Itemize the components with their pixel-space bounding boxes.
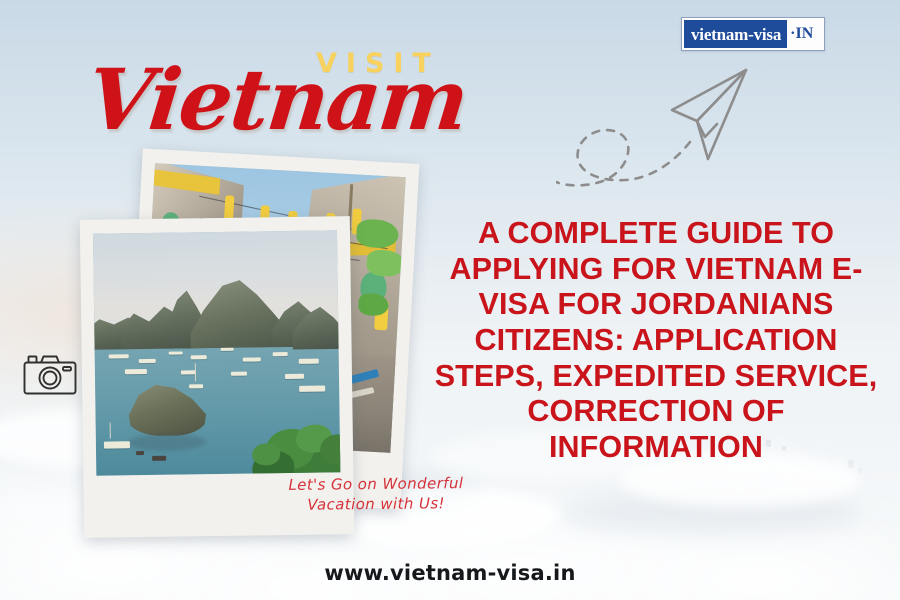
- wordmark-vietnam: Vietnam: [84, 58, 471, 142]
- boat: [104, 441, 130, 448]
- poster-canvas: vietnam-visa ·IN VISIT Vietnam: [0, 0, 900, 600]
- visit-vietnam-wordmark: VISIT Vietnam: [88, 38, 468, 148]
- boat: [191, 356, 207, 360]
- foreground-foliage: [239, 400, 340, 476]
- boat: [125, 368, 147, 373]
- logo-primary-text: vietnam-visa: [691, 26, 781, 43]
- camera-icon: [22, 352, 78, 398]
- logo-suffix-text: ·IN: [790, 26, 813, 42]
- paper-plane-graphic: [556, 58, 756, 188]
- bay-scene: [93, 230, 340, 475]
- boat: [109, 354, 129, 358]
- polaroid-caption: Let's Go on Wonderful Vacation with Us!: [276, 473, 476, 516]
- logo-blue-panel: vietnam-visa: [684, 20, 787, 48]
- sailboat: [189, 385, 203, 389]
- boat: [231, 372, 247, 376]
- ha-long-bay-photo: [93, 230, 340, 475]
- caption-line-1: Let's Go on Wonderful: [276, 473, 476, 495]
- page-title: A COMPLETE GUIDE TO APPLYING FOR VIETNAM…: [424, 216, 888, 465]
- boat: [181, 370, 196, 374]
- boat: [299, 385, 325, 391]
- boat: [285, 374, 304, 379]
- caption-line-2: Vacation with Us!: [276, 493, 476, 515]
- dashed-trail-icon: [556, 130, 690, 185]
- boat: [221, 348, 234, 351]
- boat: [299, 359, 319, 364]
- logo-white-panel: ·IN: [787, 20, 818, 48]
- boat: [139, 359, 156, 363]
- brand-logo[interactable]: vietnam-visa ·IN: [681, 17, 825, 51]
- sailboat-mast: [110, 422, 111, 438]
- small-boat: [152, 455, 166, 460]
- boat: [273, 352, 288, 356]
- small-boat: [136, 451, 144, 455]
- boat: [243, 357, 261, 361]
- boat: [169, 351, 183, 354]
- footer-url[interactable]: www.vietnam-visa.in: [0, 561, 900, 585]
- paper-plane-icon: [556, 58, 756, 188]
